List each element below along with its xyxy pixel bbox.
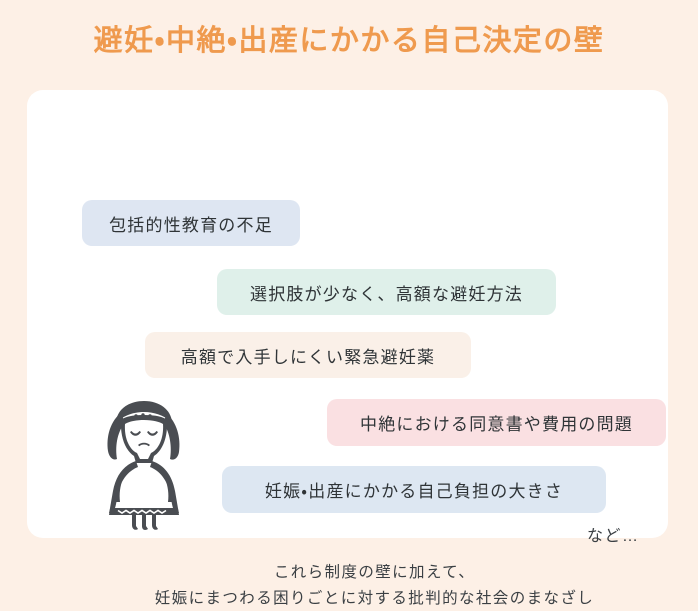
barrier-chip: 妊娠・出産にかかる自己負担の大きさ [222, 466, 606, 513]
etcetera-label: など… [587, 522, 640, 546]
barrier-chip: 高額で入手しにくい緊急避妊薬 [145, 332, 471, 378]
page-title: 避妊・中絶・出産にかかる自己決定の壁 [0, 24, 698, 59]
footnote: これら制度の壁に加えて、 妊娠にまつわる困りごとに対する批判的な社会のまなざし [54, 560, 695, 611]
sad-woman-illustration [84, 395, 208, 531]
content-card: 包括的性教育の不足 選択肢が少なく、高額な避妊方法 高額で入手しにくい緊急避妊薬… [27, 90, 668, 538]
footnote-line-2: 妊娠にまつわる困りごとに対する批判的な社会のまなざし [54, 586, 695, 611]
footnote-line-1: これら制度の壁に加えて、 [54, 560, 695, 586]
barrier-chip: 包括的性教育の不足 [82, 200, 300, 246]
infographic-page: 避妊・中絶・出産にかかる自己決定の壁 [0, 0, 698, 576]
barrier-chip: 選択肢が少なく、高額な避妊方法 [217, 269, 556, 315]
barrier-chip: 中絶における同意書や費用の問題 [327, 399, 666, 446]
